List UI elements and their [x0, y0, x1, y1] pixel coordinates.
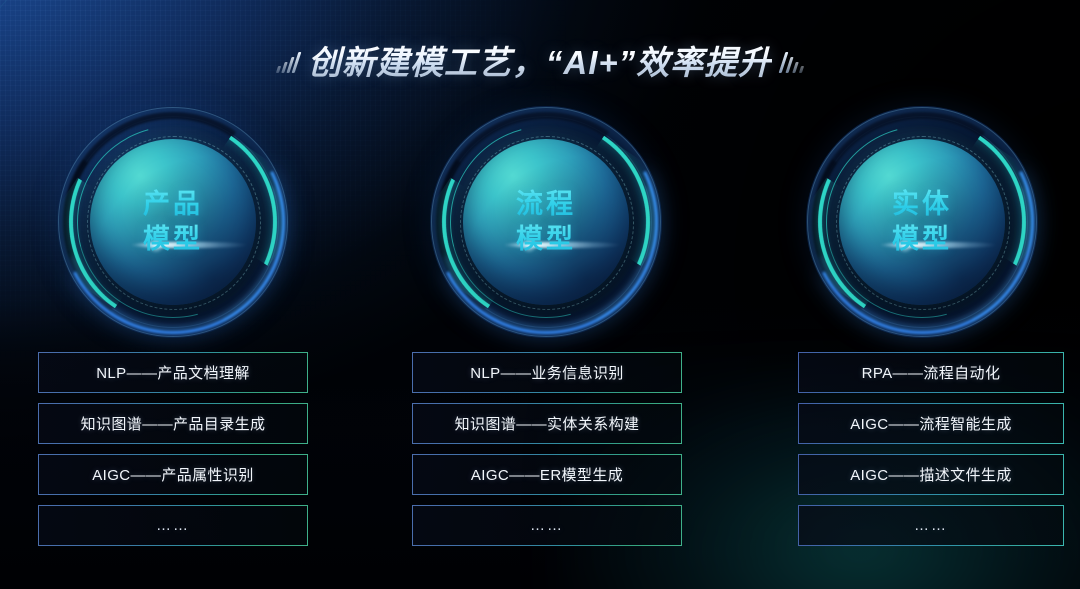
circle-label-line1: 流程: [516, 189, 576, 221]
item-label: ……: [156, 517, 190, 534]
item-label: AIGC——ER模型生成: [471, 464, 623, 485]
item-label: 知识图谱——产品目录生成: [81, 413, 266, 434]
circle-entity-model[interactable]: 实体 模型: [806, 106, 1038, 338]
column-entity-model-items: RPA——流程自动化 AIGC——流程智能生成 AIGC——描述文件生成 ……: [798, 352, 1064, 546]
circle-label-line2: 模型: [516, 224, 576, 256]
item-label: NLP——业务信息识别: [470, 362, 624, 383]
list-item[interactable]: AIGC——产品属性识别: [38, 454, 308, 495]
item-label: AIGC——流程智能生成: [850, 413, 1011, 434]
list-item[interactable]: AIGC——流程智能生成: [798, 403, 1064, 444]
list-item-more[interactable]: ……: [38, 505, 308, 546]
list-item[interactable]: NLP——产品文档理解: [38, 352, 308, 393]
circle-label-entity-model: 实体 模型: [806, 106, 1038, 338]
circle-process-model[interactable]: 流程 模型: [430, 106, 662, 338]
list-item[interactable]: RPA——流程自动化: [798, 352, 1064, 393]
list-item[interactable]: AIGC——描述文件生成: [798, 454, 1064, 495]
circle-label-process-model: 流程 模型: [430, 106, 662, 338]
slide-canvas: 创新建模工艺，“AI+”效率提升 产品 模型: [0, 0, 1080, 589]
circle-label-product-model: 产品 模型: [57, 106, 289, 338]
item-label: RPA——流程自动化: [862, 362, 1001, 383]
item-label: ……: [530, 517, 564, 534]
item-label: 知识图谱——实体关系构建: [455, 413, 640, 434]
column-process-model-items: NLP——业务信息识别 知识图谱——实体关系构建 AIGC——ER模型生成 ……: [412, 352, 682, 546]
list-item-more[interactable]: ……: [798, 505, 1064, 546]
list-item[interactable]: AIGC——ER模型生成: [412, 454, 682, 495]
item-label: AIGC——描述文件生成: [850, 464, 1011, 485]
list-item[interactable]: NLP——业务信息识别: [412, 352, 682, 393]
circle-product-model[interactable]: 产品 模型: [57, 106, 289, 338]
list-item[interactable]: 知识图谱——实体关系构建: [412, 403, 682, 444]
circle-label-line2: 模型: [143, 224, 203, 256]
item-label: ……: [914, 517, 948, 534]
circle-label-line1: 实体: [892, 189, 952, 221]
item-label: AIGC——产品属性识别: [92, 464, 253, 485]
column-product-model-items: NLP——产品文档理解 知识图谱——产品目录生成 AIGC——产品属性识别 ……: [38, 352, 308, 546]
list-item[interactable]: 知识图谱——产品目录生成: [38, 403, 308, 444]
list-item-more[interactable]: ……: [412, 505, 682, 546]
circle-label-line1: 产品: [143, 189, 203, 221]
circle-label-line2: 模型: [892, 224, 952, 256]
item-label: NLP——产品文档理解: [96, 362, 250, 383]
